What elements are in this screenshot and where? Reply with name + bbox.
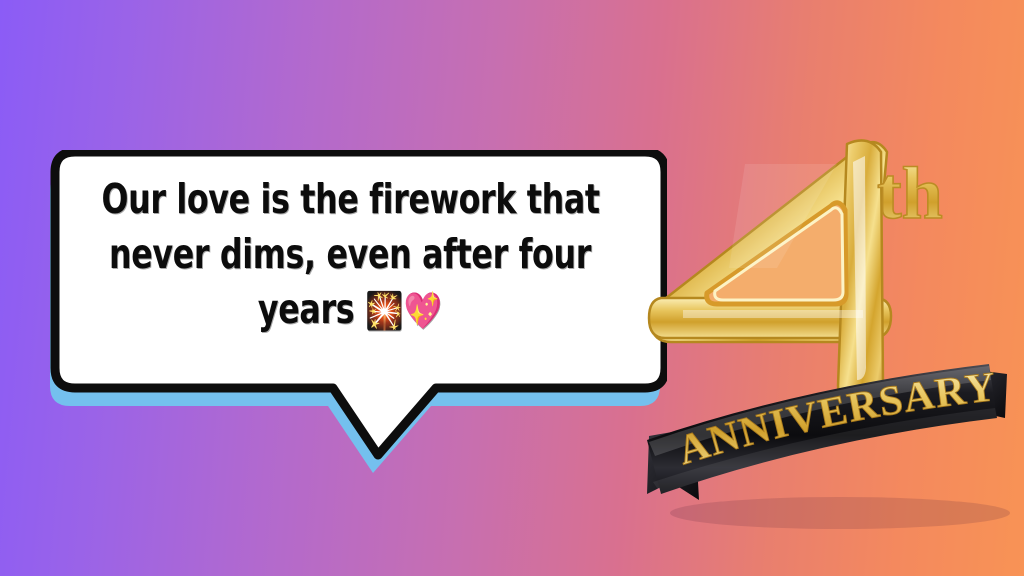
- bubble-line-3: years 🎇💖: [101, 282, 598, 339]
- number-4-balloon: [649, 140, 891, 408]
- ordinal-suffix-text: th: [877, 153, 943, 235]
- poster-canvas: Our love is the firework that never dims…: [0, 0, 1024, 576]
- anniversary-artwork: th ANNIVERSARY: [625, 118, 1024, 538]
- bubble-line-1: Our love is the firework that: [101, 172, 598, 227]
- bubble-line-3-text: years: [258, 285, 365, 333]
- bubble-line-2: never dims, even after four: [101, 227, 598, 282]
- bubble-line-3-emoji: 🎇💖: [365, 291, 442, 332]
- anniversary-ribbon: ANNIVERSARY: [647, 364, 1007, 500]
- badge-ground-shadow: [670, 497, 1010, 529]
- anniversary-badge: th ANNIVERSARY: [625, 118, 1024, 538]
- speech-bubble: Our love is the firework that never dims…: [33, 150, 667, 470]
- speech-bubble-text: Our love is the firework that never dims…: [101, 172, 598, 339]
